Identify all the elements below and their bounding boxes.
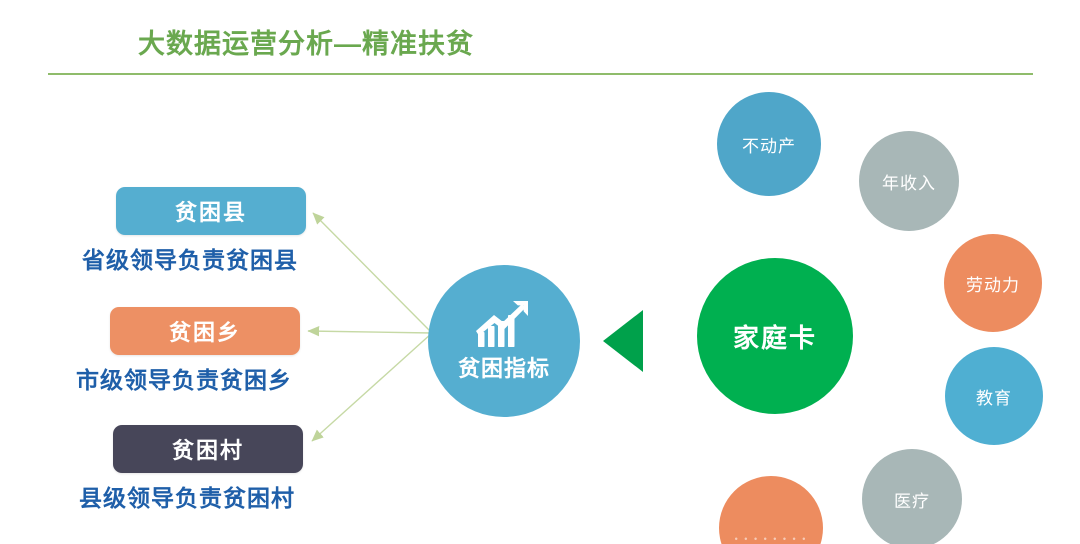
attribute-node-other[interactable]: • • • • • • • • bbox=[719, 476, 823, 544]
attribute-node-medical[interactable]: 医疗 bbox=[862, 449, 962, 544]
attribute-label-income: 年收入 bbox=[882, 169, 936, 194]
level-caption-county: 省级领导负责贫困县 bbox=[82, 241, 298, 275]
attribute-node-property[interactable]: 不动产 bbox=[717, 92, 821, 196]
level-box-county-label: 贫困县 bbox=[175, 195, 247, 227]
family-card-node[interactable]: 家庭卡 bbox=[697, 258, 853, 414]
bar-chart-rising-arrow-icon bbox=[472, 299, 536, 351]
connector-to-town bbox=[308, 331, 432, 333]
attribute-label-property: 不动产 bbox=[742, 132, 796, 157]
attribute-label-labor: 劳动力 bbox=[966, 271, 1020, 296]
attribute-label-medical: 医疗 bbox=[894, 487, 930, 512]
level-box-town-label: 贫困乡 bbox=[169, 315, 241, 347]
level-caption-town: 市级领导负责贫困乡 bbox=[76, 361, 292, 395]
attribute-node-labor[interactable]: 劳动力 bbox=[944, 234, 1042, 332]
connector-to-village bbox=[312, 333, 432, 441]
slide-canvas: 大数据运营分析—精准扶贫 贫困县 省级领导负责贫困县 贫困乡 市级领导负责贫困乡… bbox=[0, 0, 1080, 544]
poverty-index-node[interactable]: 贫困指标 bbox=[428, 265, 580, 417]
attribute-label-other: • • • • • • • • bbox=[735, 534, 808, 544]
attribute-node-income[interactable]: 年收入 bbox=[859, 131, 959, 231]
family-card-label: 家庭卡 bbox=[733, 318, 817, 355]
triangle-left-icon bbox=[608, 311, 610, 371]
attribute-node-education[interactable]: 教育 bbox=[945, 347, 1043, 445]
title-divider bbox=[48, 73, 1033, 75]
level-box-village[interactable]: 贫困村 bbox=[113, 425, 303, 473]
flow-arrow bbox=[603, 310, 643, 372]
poverty-index-label: 贫困指标 bbox=[458, 351, 550, 383]
connector-to-county bbox=[313, 213, 432, 333]
slide-header: 大数据运营分析—精准扶贫 bbox=[0, 0, 1080, 80]
level-box-town[interactable]: 贫困乡 bbox=[110, 307, 300, 355]
level-caption-village: 县级领导负责贫困村 bbox=[79, 479, 295, 513]
level-box-village-label: 贫困村 bbox=[172, 433, 244, 465]
attribute-label-education: 教育 bbox=[976, 384, 1012, 409]
page-title: 大数据运营分析—精准扶贫 bbox=[138, 22, 474, 61]
level-box-county[interactable]: 贫困县 bbox=[116, 187, 306, 235]
